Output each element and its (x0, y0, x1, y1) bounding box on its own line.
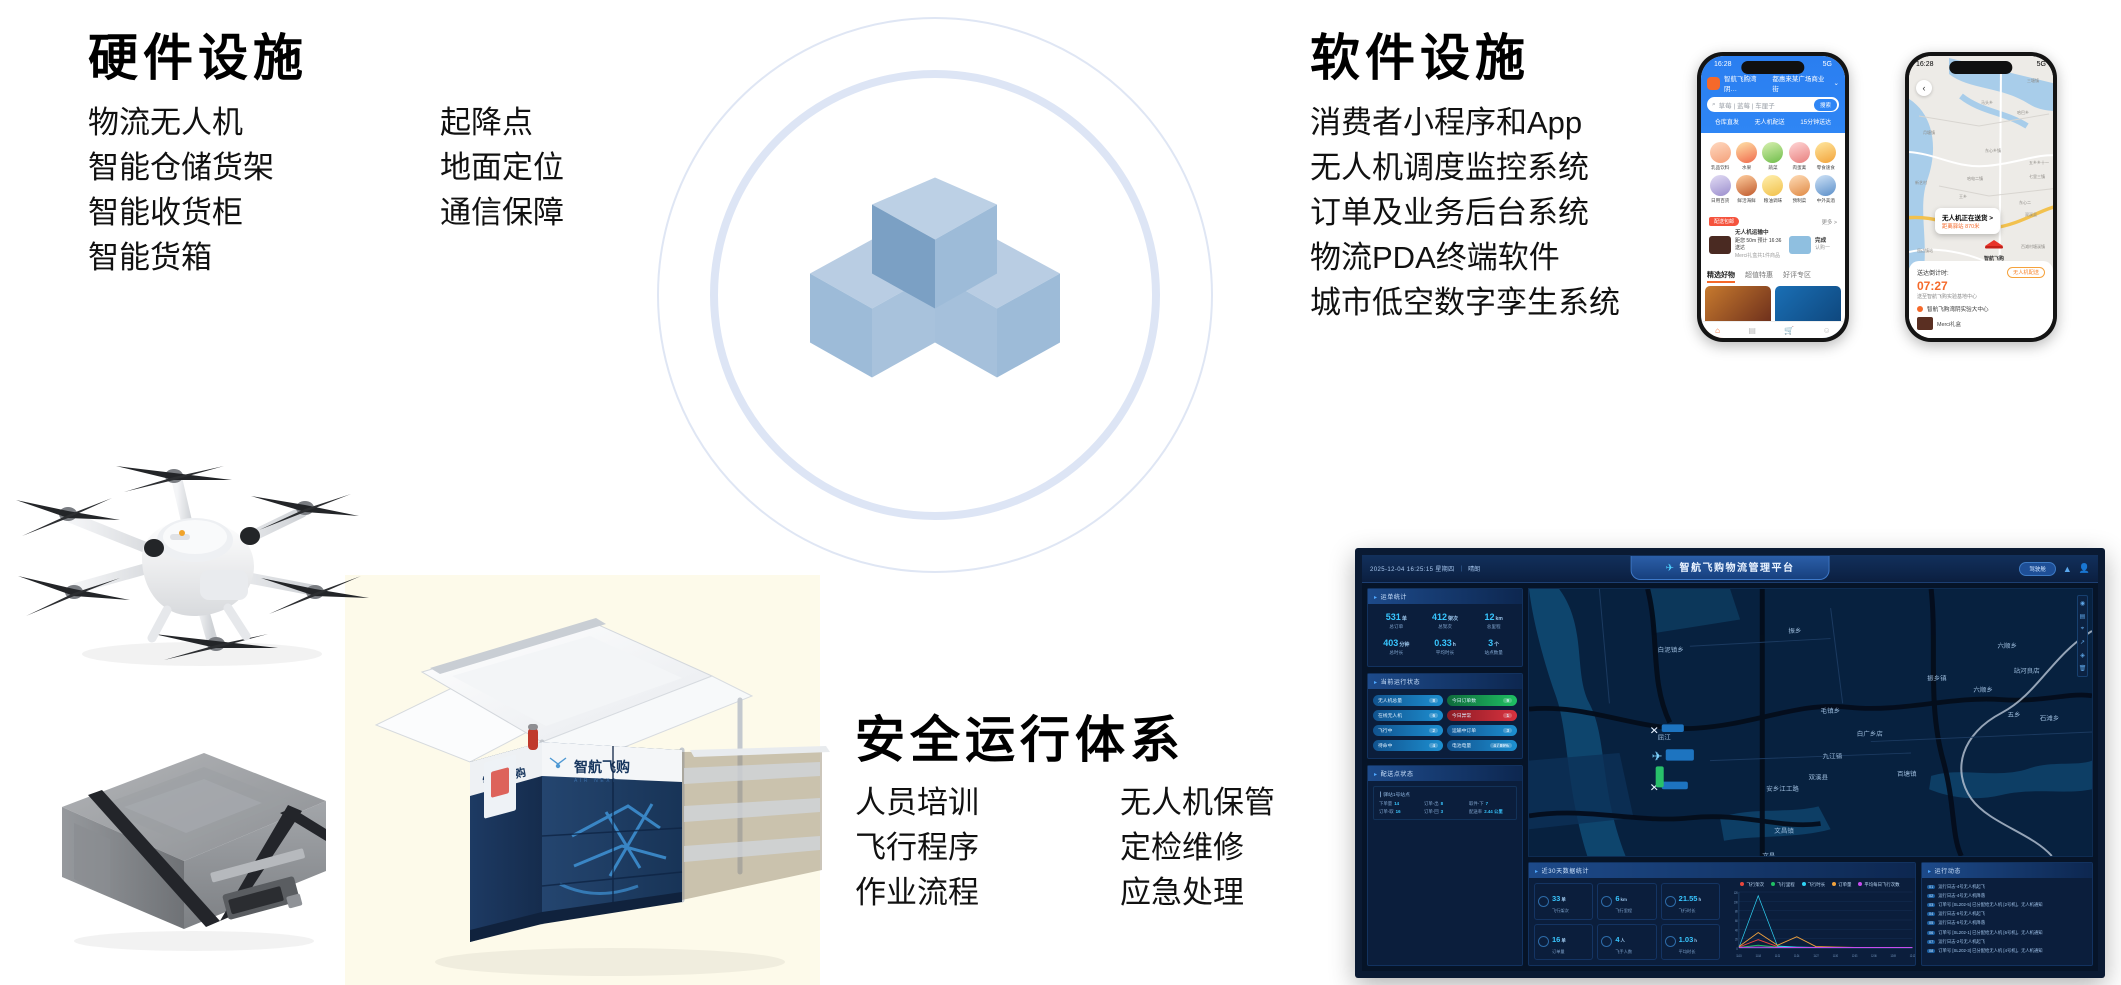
log-tag: 02 (1927, 894, 1935, 898)
legend-label: 飞行时长 (1808, 882, 1826, 887)
chart-legend: 飞行架次 飞行里程 飞行时长 订单量 平均每日飞行次数 (1725, 878, 1915, 888)
status-icons: 5G (1823, 61, 1832, 68)
stat-label: 总时长 (1373, 650, 1420, 656)
category-label: 中外美酒 (1817, 198, 1835, 203)
promo-right-sub: 认购一 (1815, 245, 1830, 251)
status-panel: ▸当前运行状态 无人机总量8 今日订单数9 在线无人机6 今日异常1 飞行中2 … (1367, 673, 1523, 759)
stats-panel-title: 运单统计 (1381, 595, 1407, 601)
status-icons: 5G (2037, 61, 2046, 68)
svg-text:白广乡店: 白广乡店 (1857, 729, 1883, 738)
topbar-actions[interactable]: 驾驶舱 ▲ 👤 (2019, 562, 2090, 576)
dispatch-panel: ▸配送点状态 ┃ 驿站1号站点 下单量14 订单-出8 取件-下7 订单-取16… (1367, 765, 1523, 966)
svg-text:站河良店: 站河良店 (2014, 666, 2040, 675)
stat-value: 0.33h (1422, 638, 1469, 648)
item-thumbnail (1917, 317, 1933, 330)
log-row[interactable]: 03订单号 [SL202-5] 已分配给无人机 [2号机]，无人机通知 (1927, 900, 2087, 909)
log-row[interactable]: 01运行日志-4号无人机起飞 (1927, 882, 2087, 891)
log-text: 运行日志-6号无人机起飞 (1938, 911, 1985, 917)
kpi-item: 6km飞行里程 (1597, 883, 1656, 920)
stat-unit: 架次 (1448, 616, 1458, 622)
kpi-label: 飞行时长 (1679, 908, 1701, 914)
stat-number: 0.33 (1434, 638, 1452, 648)
log-row[interactable]: 06订单号 [SL202-1] 已分配给无人机 [6号机]，无人机通知 (1927, 928, 2087, 937)
dashboard-weather: 晴朗 (1468, 564, 1480, 573)
dispatch-metric: 配送率2.44 公里 (1469, 809, 1511, 815)
list-item: 物流无人机 (88, 100, 274, 145)
kpi-number: 21.55 (1679, 894, 1698, 903)
category-icon (1815, 142, 1836, 163)
status-chip[interactable]: 电池电量4 / 89% (1447, 740, 1517, 751)
expand-icon[interactable]: ▸ (1374, 680, 1378, 686)
promo-thumbnail (1709, 236, 1731, 254)
drone-logo-icon: ✈ (1666, 563, 1676, 574)
list-item: 人员培训 (855, 780, 979, 825)
countdown-value: 07:27 (1917, 279, 2045, 293)
dashboard-body: ▸运单统计 531单总订单 412架次总架次 12km总里程 403分钟总时长 … (1362, 583, 2098, 971)
svg-text:12:03: 12:03 (1852, 953, 1858, 958)
svg-text:马头乡: 马头乡 (1981, 99, 1993, 105)
category-icon (1710, 175, 1731, 196)
kpi-label: 飞行里程 (1615, 908, 1632, 914)
kpi-unit: 单 (1561, 938, 1565, 943)
phone-notch (1949, 61, 2012, 74)
kpi-unit: h (1698, 897, 1701, 902)
countdown-row: 送达倒计时: 无人机配送 (1917, 267, 2045, 278)
svg-text:东心乡镇: 东心乡镇 (1985, 147, 2001, 153)
category-label: 蔬菜 (1768, 165, 1777, 170)
list-item: 地面定位 (440, 145, 564, 190)
category-item[interactable]: 肉蛋禽 (1786, 142, 1812, 171)
svg-text:屈边镇站: 屈边镇站 (1917, 247, 1933, 253)
svg-text:双溪县: 双溪县 (2025, 211, 2037, 217)
status-panel-header: ▸当前运行状态 (1368, 674, 1522, 689)
svg-text:七里三镇: 七里三镇 (2029, 173, 2045, 179)
user-icon[interactable]: 👤 (2079, 563, 2090, 574)
chip-value: 9 (1503, 698, 1512, 703)
status-time: 16:28 (1916, 61, 1934, 68)
profile-icon[interactable]: ☺ (1823, 326, 1831, 335)
category-label: 日用百货 (1711, 198, 1729, 203)
status-chip[interactable]: 今日异常1 (1447, 710, 1517, 721)
log-text: 运行日志-4号无人机降落 (1938, 893, 1985, 899)
svg-text:双溪县: 双溪县 (1808, 773, 1828, 782)
kpi-item: 4人飞手人数 (1597, 924, 1656, 961)
stat-unit: km (1496, 616, 1503, 622)
category-icon[interactable]: ▤ (1748, 326, 1756, 335)
svg-text:60: 60 (1735, 918, 1738, 923)
tab-reviews[interactable]: 好评专区 (1783, 270, 1811, 283)
stat-item: 412架次总架次 (1422, 612, 1469, 630)
stat-value: 403分钟 (1373, 638, 1420, 648)
kpi-unit: km (1621, 897, 1627, 902)
marker-icon[interactable]: ◈ (2080, 652, 2085, 659)
phone-notch (1741, 61, 1804, 74)
status-chip[interactable]: 无人机总量8 (1373, 695, 1443, 706)
stat-unit: 单 (1402, 616, 1407, 622)
stat-unit: 个 (1494, 642, 1499, 648)
store-name: 智航飞购湾阴实验大中心 (1927, 305, 1989, 313)
stat-item: 403分钟总时长 (1373, 638, 1420, 656)
svg-text:东心二: 东心二 (2019, 199, 2031, 205)
metric-value: 8 (1441, 801, 1443, 806)
expand-icon[interactable]: ▸ (1374, 595, 1378, 601)
legend-swatch (1771, 882, 1775, 886)
bubble-distance-label: 距离驿站 (1942, 224, 1964, 230)
svg-text:11:15: 11:15 (1736, 953, 1742, 958)
svg-text:12:06: 12:06 (1871, 953, 1877, 958)
svg-text:11:18: 11:18 (1756, 953, 1762, 958)
realtime-panel-title: 近30天数据统计 (1542, 869, 1589, 875)
stat-item: 12km总里程 (1470, 612, 1517, 630)
dispatch-metric: 下单量14 (1379, 801, 1421, 807)
status-chip[interactable]: 在线无人机6 (1373, 710, 1443, 721)
kpi-number: 33 (1552, 894, 1560, 903)
svg-text:12:12: 12:12 (1910, 953, 1915, 958)
dispatch-station-box: ┃ 驿站1号站点 下单量14 订单-出8 取件-下7 订单-取16 订单-回3 … (1373, 786, 1517, 820)
smart-delivery-station-image: 智航飞购 AIR NEXT 智航飞购 (360, 600, 840, 985)
smart-cargo-box-image (44, 745, 334, 960)
log-text: 订单号 [SL202-1] 已分配给无人机 [6号机]，无人机通知 (1938, 930, 2042, 936)
list-item: 作业流程 (855, 870, 979, 915)
legend-swatch (1802, 882, 1806, 886)
log-row[interactable]: 07运行日志-2号无人机起飞 (1927, 937, 2087, 946)
log-row[interactable]: 05运行日志-6号无人机降落 (1927, 919, 2087, 928)
svg-text:100: 100 (1734, 900, 1738, 905)
category-icon (1789, 175, 1810, 196)
promo-sub: Merci礼盒共1件商品 (1735, 253, 1780, 259)
log-list[interactable]: 01运行日志-4号无人机起飞 02运行日志-4号无人机降落 03订单号 [SL2… (1922, 878, 2092, 960)
measure-icon[interactable]: ⌖ (2081, 626, 2084, 633)
dispatch-panel-header: ▸配送点状态 (1368, 766, 1522, 781)
list-item: 无人机调度监控系统 (1310, 145, 1620, 190)
kpi-label: 订单量 (1552, 949, 1566, 955)
legend-swatch (1740, 882, 1744, 886)
chip-label: 待命中 (1378, 742, 1392, 749)
list-item: 智能收货柜 (88, 190, 274, 235)
promo-thumbnail-2 (1789, 236, 1811, 254)
drone-status-bubble[interactable]: 无人机正在送货 > 距离驿站 870米 (1935, 208, 2000, 234)
category-label: 肉蛋禽 (1792, 165, 1806, 170)
stat-value: 412架次 (1422, 612, 1469, 622)
category-item[interactable]: 水果 (1733, 142, 1759, 171)
svg-text:11:24: 11:24 (1794, 953, 1800, 958)
svg-text:AIR NEXT: AIR NEXT (574, 778, 618, 784)
cart-icon[interactable]: 🛒 (1784, 326, 1794, 335)
store-selector[interactable]: 智航飞购湾阴… 都惠来某广场商业街 ⌄ (1707, 73, 1839, 97)
list-item: 无人机保管 (1120, 780, 1275, 825)
svg-text:新艺村: 新艺村 (1915, 179, 1927, 185)
promo-right-title: 完成 (1815, 238, 1826, 244)
metric-value: 16 (1396, 809, 1401, 814)
legend-label: 飞行架次 (1746, 882, 1764, 887)
stats-grid: 531单总订单 412架次总架次 12km总里程 403分钟总时长 0.33h平… (1368, 604, 1522, 666)
chip-value: 3 (1503, 728, 1512, 733)
stat-label: 总订单 (1373, 624, 1420, 630)
search-button[interactable]: 搜索 (1814, 99, 1837, 111)
center-emblem (655, 15, 1215, 575)
category-label: 水果 (1742, 165, 1751, 170)
chip-label: 今日订单数 (1452, 697, 1476, 704)
chip-label: 电池电量 (1452, 742, 1471, 749)
metric-value: 2.44 公里 (1484, 809, 1503, 814)
svg-text:哈电二镇: 哈电二镇 (1967, 175, 1983, 181)
category-item[interactable]: 鲜活海鲜 (1733, 175, 1759, 204)
promo-line: 距您 50m 预计 16:36 送达 (1735, 238, 1781, 252)
kpi-value: 33单 (1552, 894, 1566, 903)
log-text: 运行日志-6号无人机降落 (1938, 920, 1985, 926)
kpi-number: 4 (1615, 935, 1619, 944)
category-item[interactable]: 预制菜 (1786, 175, 1812, 204)
order-icon (1538, 936, 1549, 947)
log-text: 订单号 [SL202-5] 已分配给无人机 [2号机]，无人机通知 (1938, 902, 2042, 908)
layers-icon[interactable]: ▤ (2080, 613, 2086, 620)
dashboard-topbar: 2025-12-04 16:25:15 星期四 | 晴朗 ✈智航飞购物流管理平台… (1362, 555, 2098, 583)
list-item: 城市低空数字孪生系统 (1310, 280, 1620, 325)
metric-key: 订单-回 (1424, 809, 1439, 814)
category-icon (1789, 142, 1810, 163)
bottom-nav[interactable]: ⌂ ▤ 🛒 ☺ (1701, 321, 1845, 338)
bubble-distance: 距离驿站 870米 (1942, 224, 1979, 230)
svg-text:智航飞购: 智航飞购 (573, 759, 630, 775)
stat-item: 0.33h平均时长 (1422, 638, 1469, 656)
promo-badge: 配送包邮 (1709, 217, 1739, 226)
category-icon (1736, 142, 1757, 163)
topbar-divider: | (1461, 566, 1463, 572)
stat-number: 403 (1383, 638, 1398, 648)
alert-icon[interactable]: ▲ (2063, 564, 2072, 574)
isometric-cubes-icon (810, 178, 1060, 413)
safety-section-title: 安全运行体系 (855, 700, 1185, 772)
svg-text:120: 120 (1734, 890, 1738, 895)
delivery-detail-panel[interactable]: 送达倒计时: 无人机配送 07:27 送至智航飞购实验基地中心 智航飞购湾阴实验… (1909, 261, 2053, 338)
log-panel-header: ▸运行动态 (1922, 863, 2092, 878)
svg-text:哈巴乡: 哈巴乡 (2017, 109, 2029, 115)
svg-text:振乡: 振乡 (1788, 626, 1801, 635)
app-logo-icon (1707, 77, 1720, 90)
consumer-app-phone[interactable]: 16:28 5G 智航飞购湾阴… 都惠来某广场商业街 ⌄ ⌕ 草莓 | 蓝莓 |… (1697, 52, 1849, 342)
chip-label: 今日异常 (1452, 712, 1471, 719)
kpi-value: 16单 (1552, 935, 1566, 944)
trend-chart-svg: 02040608010012011:1511:1811:2111:2411:27… (1725, 888, 1915, 960)
dispatch-metrics: 下单量14 订单-出8 取件-下7 订单-取16 订单-回3 配送率2.44 公… (1379, 801, 1511, 815)
legend-swatch (1858, 882, 1862, 886)
kpi-grid: 33单飞行架次 6km飞行里程 21.55h飞行时长 16单订单量 4人飞手人数… (1529, 878, 1725, 965)
metric-value: 7 (1486, 801, 1488, 806)
stats-panel: ▸运单统计 531单总订单 412架次总架次 12km总里程 403分钟总时长 … (1367, 588, 1523, 667)
dispatch-metric: 取件-下7 (1469, 801, 1511, 807)
locate-icon[interactable]: ◉ (2080, 600, 2085, 607)
stat-label: 总架次 (1422, 624, 1469, 630)
chip-value: 6 (1429, 713, 1438, 718)
delivery-tracking-phone[interactable]: 三塘镇马头乡 哈巴乡月塘镇 东心乡镇五乡乡十一 七里三镇哈电二镇 新艺村东心二 … (1905, 52, 2057, 342)
svg-text:石滩乡: 石滩乡 (2040, 714, 2060, 723)
promo-text: 无人机运输中 距您 50m 预计 16:36 送达 Merci礼盒共1件商品 (1735, 229, 1785, 260)
log-row[interactable]: 04运行日志-6号无人机起飞 (1927, 910, 2087, 919)
log-tag: 07 (1927, 940, 1935, 944)
consumer-app-screen[interactable]: 16:28 5G 智航飞购湾阴… 都惠来某广场商业街 ⌄ ⌕ 草莓 | 蓝莓 |… (1701, 56, 1845, 338)
delivery-mode-badge: 无人机配送 (2007, 267, 2045, 278)
list-item: 智能货箱 (88, 235, 274, 280)
category-item[interactable]: 乳品饮料 (1707, 142, 1733, 171)
log-row[interactable]: 02运行日志-4号无人机降落 (1927, 891, 2087, 900)
tab-15min-delivery[interactable]: 15分钟送达 (1800, 117, 1831, 126)
home-icon[interactable]: ⌂ (1715, 326, 1720, 335)
store-dot-icon (1917, 306, 1923, 312)
category-grid[interactable]: 乳品饮料 水果 蔬菜 肉蛋禽 零食速食 日用百货 鲜活海鲜 粮油调味 预制菜 中… (1707, 142, 1839, 204)
delivery-tracking-screen[interactable]: 三塘镇马头乡 哈巴乡月塘镇 东心乡镇五乡乡十一 七里三镇哈电二镇 新艺村东心二 … (1909, 56, 2053, 338)
stat-label: 总里程 (1470, 624, 1517, 630)
legend-label: 订单量 (1838, 882, 1851, 887)
metric-key: 订单-取 (1379, 809, 1394, 814)
kpi-unit: 人 (1621, 938, 1625, 943)
svg-text:五乡: 五乡 (2008, 711, 2021, 719)
svg-text:五乡乡十一: 五乡乡十一 (2029, 159, 2049, 165)
stat-label: 站点数量 (1470, 650, 1517, 656)
list-item: 物流PDA终端软件 (1310, 235, 1620, 280)
promo-more-link[interactable]: 更多 > (1822, 218, 1837, 226)
list-item: 飞行程序 (855, 825, 979, 870)
category-label: 鲜活海鲜 (1737, 198, 1755, 203)
stat-value: 12km (1470, 612, 1517, 622)
kpi-item: 1.03h平均时长 (1661, 924, 1720, 961)
status-chip[interactable]: 运输中订单3 (1447, 725, 1517, 736)
promo-right-text: 完成 认购一 (1815, 237, 1837, 253)
svg-text:安乡江工路: 安乡江工路 (1766, 784, 1799, 793)
log-tag: 08 (1927, 949, 1935, 953)
tab-drone-delivery[interactable]: 无人机配送 (1755, 117, 1785, 126)
stat-number: 12 (1485, 612, 1495, 622)
operations-map[interactable]: 白泥镇乡 振乡 毛镇乡 六顺乡 六顺乡 五乡 石滩乡 站河良店 振乡镇 九江镇 (1528, 588, 2093, 857)
cockpit-button[interactable]: 驾驶舱 (2019, 562, 2056, 576)
dispatch-metric: 订单-取16 (1379, 809, 1421, 815)
list-item: 应急处理 (1120, 870, 1275, 915)
list-item: 起降点 (440, 100, 564, 145)
status-chip[interactable]: 今日订单数9 (1447, 695, 1517, 706)
delivery-status-card[interactable]: 配送包邮 更多 > 无人机运输中 距您 50m 预计 16:36 送达 Merc… (1705, 213, 1841, 264)
avg-icon (1665, 936, 1676, 947)
status-chip[interactable]: 飞行中2 (1373, 725, 1443, 736)
realtime-panel-header: ▸近30天数据统计 (1529, 863, 1915, 878)
hardware-section-title: 硬件设施 (88, 18, 308, 90)
countdown-sub: 送至智航飞购实验基地中心 (1917, 293, 2045, 300)
expand-icon[interactable]: ▸ (1535, 869, 1539, 875)
category-icon (1815, 175, 1836, 196)
order-item-row: Merci礼盒 (1917, 317, 2045, 330)
store-name: 智航飞购湾阴… (1724, 73, 1768, 93)
category-label: 零食速食 (1817, 165, 1835, 170)
log-tag: 05 (1927, 921, 1935, 925)
list-item: 消费者小程序和App (1310, 100, 1620, 145)
metric-key: 取件-下 (1469, 801, 1484, 806)
expand-icon[interactable]: ▸ (1928, 869, 1932, 875)
category-label: 乳品饮料 (1711, 165, 1729, 170)
svg-text:文昌镇: 文昌镇 (1774, 826, 1794, 835)
category-item[interactable]: 零食速食 (1813, 142, 1839, 171)
safety-list-column-b: 无人机保管 定检维修 应急处理 (1120, 780, 1275, 915)
stat-unit: 分钟 (1399, 642, 1409, 648)
map-graphic: 白泥镇乡 振乡 毛镇乡 六顺乡 六顺乡 五乡 石滩乡 站河良店 振乡镇 九江镇 (1529, 589, 2092, 856)
stat-item: 531单总订单 (1373, 612, 1420, 630)
map-toolbar[interactable]: ◉ ▤ ⌖ ↗ ◈ 🗑 (2077, 595, 2088, 677)
infographic-canvas: 硬件设施 物流无人机 智能仓储货架 智能收货柜 智能货箱 起降点 地面定位 通信… (0, 0, 2121, 985)
log-tag: 03 (1927, 903, 1935, 907)
kpi-item: 33单飞行架次 (1534, 883, 1593, 920)
kpi-item: 16单订单量 (1534, 924, 1593, 961)
category-icon (1762, 142, 1783, 163)
dashboard-datetime: 2025-12-04 16:25:15 星期四 (1370, 564, 1455, 573)
chip-label: 在线无人机 (1378, 712, 1402, 719)
section-tabs[interactable]: 精选好物 超值特惠 好评专区 (1701, 264, 1845, 286)
category-item[interactable]: 蔬菜 (1760, 142, 1786, 171)
logistics-drone-image (2, 440, 372, 670)
log-row[interactable]: 08订单号 [SL202-3] 已分配给无人机 [4号机]，无人机通知 (1927, 946, 2087, 955)
back-button[interactable]: ‹ (1916, 80, 1932, 96)
svg-text:80: 80 (1735, 909, 1738, 914)
category-label: 粮油调味 (1764, 198, 1782, 203)
promo-title: 无人机运输中 (1735, 230, 1769, 236)
category-grid-card: 乳品饮料 水果 蔬菜 肉蛋禽 零食速食 日用百货 鲜活海鲜 粮油调味 预制菜 中… (1705, 137, 1841, 209)
svg-text:✕: ✕ (1650, 725, 1659, 737)
status-chip[interactable]: 待命中4 (1373, 740, 1443, 751)
category-item[interactable]: 粮油调味 (1760, 175, 1786, 204)
kpi-value: 21.55h (1679, 894, 1701, 903)
dashboard-left-column: ▸运单统计 531单总订单 412架次总架次 12km总里程 403分钟总时长 … (1362, 583, 1528, 971)
status-panel-title: 当前运行状态 (1381, 680, 1421, 686)
svg-text:毛镇乡: 毛镇乡 (1821, 706, 1841, 715)
chip-label: 无人机总量 (1378, 697, 1402, 704)
route-icon[interactable]: ↗ (2080, 639, 2085, 646)
svg-text:王乡: 王乡 (1959, 194, 1967, 199)
delete-icon[interactable]: 🗑 (2079, 665, 2087, 672)
svg-text:屈江: 屈江 (1658, 734, 1672, 742)
sortie-icon (1538, 896, 1549, 907)
kpi-value: 6km (1615, 894, 1627, 903)
legend-label: 飞行里程 (1777, 882, 1795, 887)
chevron-down-icon[interactable]: ⌄ (1834, 79, 1839, 87)
tab-warehouse-direct[interactable]: 仓库直发 (1715, 117, 1739, 126)
svg-text:月塘镇: 月塘镇 (1923, 129, 1935, 135)
list-item: 订单及业务后台系统 (1310, 190, 1620, 235)
svg-text:11:27: 11:27 (1813, 953, 1819, 958)
status-chip-grid: 无人机总量8 今日订单数9 在线无人机6 今日异常1 飞行中2 运输中订单3 待… (1368, 689, 1522, 758)
stat-label: 平均时长 (1422, 650, 1469, 656)
logistics-dashboard[interactable]: 2025-12-04 16:25:15 星期四 | 晴朗 ✈智航飞购物流管理平台… (1355, 548, 2105, 978)
list-item: 定检维修 (1120, 825, 1275, 870)
svg-text:六顺乡: 六顺乡 (1973, 685, 1993, 694)
svg-text:九江镇: 九江镇 (1823, 752, 1843, 761)
category-item[interactable]: 中外美酒 (1813, 175, 1839, 204)
tab-deals[interactable]: 超值特惠 (1745, 270, 1773, 283)
expand-icon[interactable]: ▸ (1374, 772, 1378, 778)
chip-value: 2 (1429, 728, 1438, 733)
search-input[interactable]: ⌕ 草莓 | 蓝莓 | 车厘子 搜索 (1707, 97, 1839, 112)
metric-key: 下单量 (1379, 801, 1392, 806)
stats-panel-header: ▸运单统计 (1368, 589, 1522, 604)
software-list: 消费者小程序和App 无人机调度监控系统 订单及业务后台系统 物流PDA终端软件… (1310, 100, 1620, 325)
service-tabs[interactable]: 仓库直发 无人机配送 15分钟送达 (1707, 112, 1839, 128)
log-text: 运行日志-4号无人机起飞 (1938, 884, 1985, 890)
countdown-label: 送达倒计时: (1917, 268, 1949, 277)
dispatch-station-name: ┃ 驿站1号站点 (1379, 791, 1511, 798)
store-address: 都惠来某广场商业街 (1772, 73, 1829, 93)
log-tag: 04 (1927, 912, 1935, 916)
dispatch-panel-title: 配送点状态 (1381, 772, 1414, 778)
category-item[interactable]: 日用百货 (1707, 175, 1733, 204)
svg-text:六顺乡: 六顺乡 (1997, 641, 2017, 650)
kpi-value: 1.03h (1679, 935, 1697, 944)
metric-value: 3 (1441, 809, 1443, 814)
tab-featured[interactable]: 精选好物 (1707, 270, 1735, 283)
